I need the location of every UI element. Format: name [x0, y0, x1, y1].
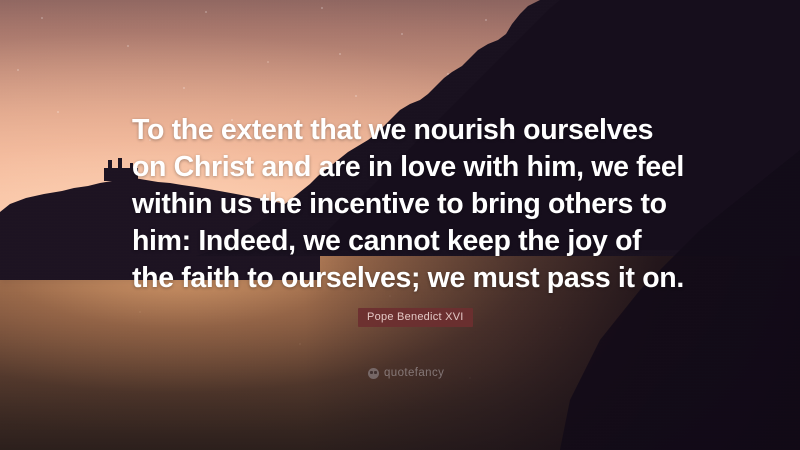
watermark: quotefancy: [368, 367, 444, 379]
quote-line: To the extent that we nourish ourselves: [132, 112, 692, 149]
quote-line: within us the incentive to bring others …: [132, 186, 692, 223]
quote-line: on Christ and are in love with him, we f…: [132, 149, 692, 186]
quote-line: him: Indeed, we cannot keep the joy of: [132, 223, 692, 260]
quotefancy-logo-icon: [368, 368, 379, 379]
quote-line: the faith to ourselves; we must pass it …: [132, 260, 692, 297]
watermark-label: quotefancy: [384, 367, 444, 379]
author-badge[interactable]: Pope Benedict XVI: [358, 308, 473, 327]
quote-poster: To the extent that we nourish ourselves …: [0, 0, 800, 450]
quote-text: To the extent that we nourish ourselves …: [132, 112, 692, 297]
